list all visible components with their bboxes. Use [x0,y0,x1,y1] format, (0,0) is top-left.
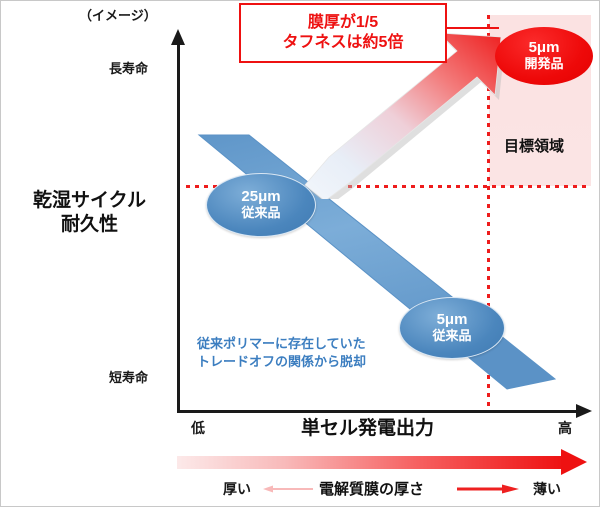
target-region-label: 目標領域 [504,135,564,156]
thickness-left-label: 厚い [223,479,251,499]
x-axis-low-label: 低 [191,418,205,438]
tradeoff-note-line-1: 従来ポリマーに存在していた [197,335,366,353]
data-point-conventional-5um[interactable]: 5μm 従来品 [399,297,505,359]
callout-line-2: タフネスは約5倍 [283,33,404,53]
thickness-scale-title: 電解質膜の厚さ [319,478,424,499]
x-axis-high-label: 高 [558,418,572,438]
thickness-gradient-bar [177,456,565,469]
y-axis-title: 乾湿サイクル 耐久性 [7,189,172,238]
y-axis-top-label: 長寿命 [109,58,148,77]
data-point-label-line2: 開発品 [524,57,563,72]
data-point-label-line2: 従来品 [241,206,280,221]
thickness-left-arrow-icon [263,485,313,493]
thickness-right-arrow-icon [457,484,519,494]
data-point-label-line1: 5μm [529,40,560,57]
callout-box: 膜厚が1/5 タフネスは約5倍 [239,3,447,63]
up-arrow-icon [171,29,185,45]
tradeoff-note-line-2: トレードオフの関係から脱却 [197,353,366,371]
data-point-label-line1: 5μm [437,312,468,329]
x-axis-title: 単セル発電出力 [301,413,434,440]
y-axis-bottom-label: 短寿命 [109,367,148,386]
tradeoff-note: 従来ポリマーに存在していた トレードオフの関係から脱却 [197,335,366,371]
y-axis-title-line-2: 耐久性 [7,213,172,237]
image-note-label: （イメージ） [79,5,157,24]
data-point-conventional-25um[interactable]: 25μm 従来品 [206,173,316,237]
callout-line-1: 膜厚が1/5 [308,13,378,33]
data-point-label-line2: 従来品 [432,329,471,344]
data-point-developed-5um[interactable]: 5μm 開発品 [495,27,593,85]
thickness-right-label: 薄い [533,479,561,499]
callout-connector-line [447,27,499,29]
right-arrow-icon [576,404,592,418]
data-point-label-line1: 25μm [241,189,280,206]
y-axis-title-line-1: 乾湿サイクル [7,189,172,213]
diagram-canvas: （イメージ） [0,0,600,507]
thickness-arrow-head-icon [561,449,587,475]
